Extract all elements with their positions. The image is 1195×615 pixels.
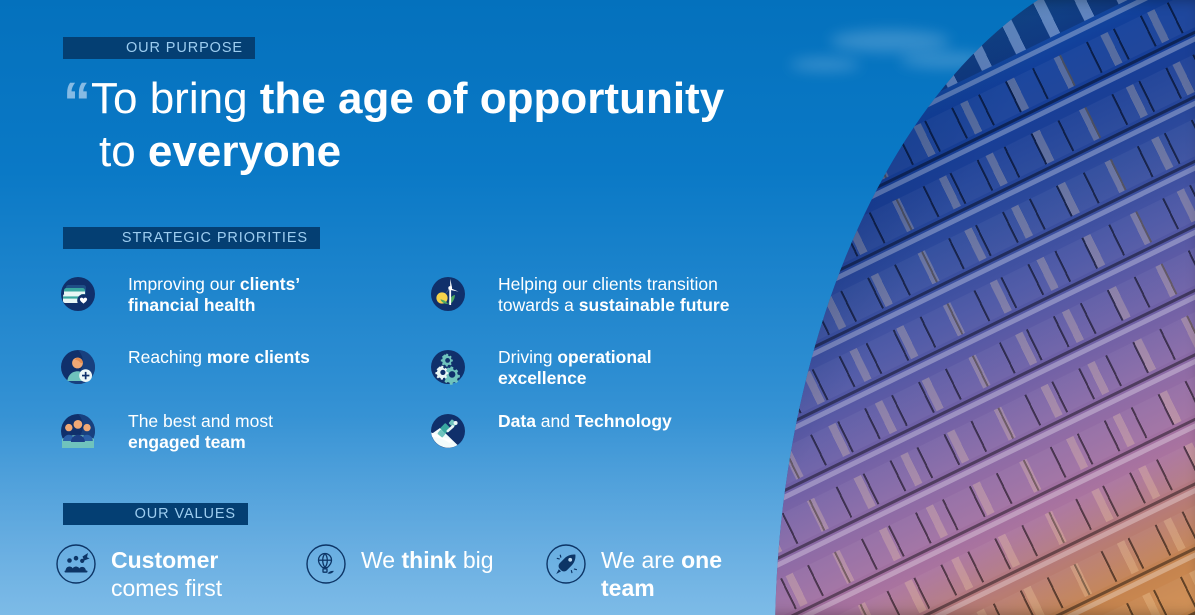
- headline-line1-light: To bring: [91, 74, 260, 123]
- quote-mark-icon: “: [63, 70, 89, 133]
- priority-text-bold2: Technology: [575, 411, 672, 431]
- priority-label: Helping our clients transitiontowards a …: [498, 272, 729, 316]
- headline-line2: to everyone: [63, 125, 763, 178]
- priority-row: Improving our clients’financial health: [58, 272, 798, 316]
- person-add-icon: [58, 347, 98, 387]
- headline-line2-bold: everyone: [148, 127, 341, 176]
- priority-text-bold: sustainable future: [579, 295, 730, 315]
- team-group-icon: [58, 411, 98, 451]
- priority-item-financial-health[interactable]: Improving our clients’financial health: [58, 272, 428, 316]
- priority-text-bold: clients’: [240, 274, 300, 294]
- strategic-priorities-grid: Improving our clients’financial health: [58, 272, 798, 453]
- priority-label: The best and mostengaged team: [128, 409, 273, 453]
- priority-label: Improving our clients’financial health: [128, 272, 300, 316]
- priority-label: Reaching more clients: [128, 345, 310, 368]
- value-text-light2: big: [456, 547, 493, 573]
- priority-text-light: and: [536, 411, 575, 431]
- value-text-bold: think: [401, 547, 456, 573]
- value-item-customer-comes-first[interactable]: Customercomes first: [55, 543, 305, 602]
- priority-item-more-clients[interactable]: Reaching more clients: [58, 345, 428, 389]
- page-title: “To bring the age of opportunity to ever…: [63, 72, 763, 178]
- rocket-icon: [545, 543, 587, 585]
- value-text-bold2: team: [601, 575, 655, 601]
- credit-card-heart-icon: [58, 274, 98, 314]
- priority-label: Driving operationalexcellence: [498, 345, 652, 389]
- priority-text-light: Reaching: [128, 347, 207, 367]
- value-label: We think big: [361, 543, 494, 574]
- headline-line2-light: to: [99, 127, 148, 176]
- priority-item-sustainable-future[interactable]: Helping our clients transitiontowards a …: [428, 272, 798, 316]
- priority-text-light: Driving: [498, 347, 557, 367]
- section-label-our-values: OUR VALUES: [63, 503, 248, 525]
- priority-label: Data and Technology: [498, 409, 672, 432]
- slide-content: OUR PURPOSE “To bring the age of opportu…: [0, 0, 1195, 615]
- priority-text-light2: towards a: [498, 295, 579, 315]
- priority-item-operational-excellence[interactable]: Driving operationalexcellence: [428, 345, 798, 389]
- priority-text-bold2: financial health: [128, 295, 255, 315]
- value-label: We are oneteam: [601, 543, 751, 602]
- value-text-light: comes first: [111, 575, 222, 601]
- value-label: Customercomes first: [111, 543, 261, 602]
- section-label-strategic-priorities: STRATEGIC PRIORITIES: [63, 227, 320, 249]
- priority-row: Reaching more clients: [58, 345, 798, 389]
- priority-text-bold2: excellence: [498, 368, 587, 388]
- priority-item-data-and-technology[interactable]: Data and Technology: [428, 409, 798, 453]
- value-text-bold: Customer: [111, 547, 218, 573]
- value-text-light: We: [361, 547, 401, 573]
- priority-text-light: The best and most: [128, 411, 273, 431]
- hot-air-balloon-icon: [305, 543, 347, 585]
- priority-text-bold: engaged team: [128, 432, 246, 452]
- gears-icon: [428, 347, 468, 387]
- priority-row: The best and mostengaged team: [58, 409, 798, 453]
- priority-item-engaged-team[interactable]: The best and mostengaged team: [58, 409, 428, 453]
- value-text-bold: one: [681, 547, 722, 573]
- our-values-row: Customercomes first: [55, 543, 755, 602]
- headline-line1-bold: the age of opportunity: [260, 74, 724, 123]
- priority-text-bold: more clients: [207, 347, 310, 367]
- priority-text-bold: Data: [498, 411, 536, 431]
- sustainability-windmill-icon: [428, 274, 468, 314]
- slide-canvas: OUR PURPOSE “To bring the age of opportu…: [0, 0, 1195, 615]
- priority-text-light: Helping our clients transition: [498, 274, 718, 294]
- value-text-light: We are: [601, 547, 681, 573]
- section-label-our-purpose: OUR PURPOSE: [63, 37, 255, 59]
- value-item-we-are-one-team[interactable]: We are oneteam: [545, 543, 755, 602]
- satellite-data-icon: [428, 411, 468, 451]
- customer-podium-icon: [55, 543, 97, 585]
- priority-text-light: Improving our: [128, 274, 240, 294]
- priority-text-bold: operational: [557, 347, 651, 367]
- value-item-we-think-big[interactable]: We think big: [305, 543, 545, 585]
